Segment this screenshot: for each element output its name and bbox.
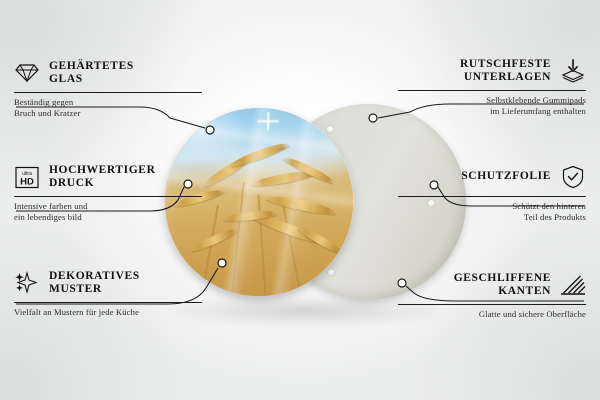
callout-beveled-edges: GESCHLIFFENEKANTEN Glatte und sichere Ob… bbox=[398, 270, 586, 320]
callout-subtitle: Vielfalt an Mustern für jede Küche bbox=[14, 307, 202, 318]
callout-title: SCHUTZFOLIE bbox=[461, 170, 551, 184]
callout-subtitle: Intensive farben undein lebendiges bild bbox=[14, 201, 202, 223]
callout-subtitle: Beständig gegenBruch und Kratzer bbox=[14, 97, 202, 119]
wheat-ear bbox=[229, 140, 290, 170]
divider bbox=[398, 304, 586, 305]
divider bbox=[14, 196, 202, 197]
callout-decorative-pattern: DEKORATIVESMUSTER Vielfalt an Mustern fü… bbox=[14, 268, 202, 318]
shield-check-icon bbox=[560, 164, 586, 190]
callout-title: RUTSCHFESTEUNTERLAGEN bbox=[460, 58, 551, 85]
anti-slip-pad-icon bbox=[560, 58, 586, 84]
ultra-hd-icon: ultra HD bbox=[14, 164, 40, 190]
beveled-edges-icon bbox=[560, 272, 586, 298]
divider bbox=[14, 92, 202, 93]
product-feature-infographic: GEHÄRTETESGLAS Beständig gegenBruch und … bbox=[0, 0, 600, 400]
callout-subtitle: Schützt den hinterenTeil des Produkts bbox=[398, 201, 586, 223]
callout-anti-slip: RUTSCHFESTEUNTERLAGEN Selbstklebende Gum… bbox=[398, 56, 586, 117]
divider bbox=[398, 196, 586, 197]
svg-text:HD: HD bbox=[20, 176, 34, 187]
sparkles-icon bbox=[14, 270, 40, 296]
callout-tempered-glass: GEHÄRTETESGLAS Beständig gegenBruch und … bbox=[14, 58, 202, 119]
diamond-gem-icon bbox=[14, 60, 40, 86]
divider bbox=[14, 302, 202, 303]
callout-protective-film: SCHUTZFOLIE Schützt den hinterenTeil des… bbox=[398, 162, 586, 223]
callout-subtitle: Selbstklebende Gummipadsim Lieferumfang … bbox=[398, 95, 586, 117]
callout-title: HOCHWERTIGERDRUCK bbox=[49, 164, 155, 191]
product-illustration bbox=[165, 100, 435, 320]
callout-title: GESCHLIFFENEKANTEN bbox=[454, 272, 551, 299]
callout-title: GEHÄRTETESGLAS bbox=[49, 60, 134, 87]
callout-hd-print: ultra HD HOCHWERTIGERDRUCK Intensive far… bbox=[14, 162, 202, 223]
glass-glint-icon bbox=[257, 110, 279, 132]
divider bbox=[398, 90, 586, 91]
callout-subtitle: Glatte und sichere Oberfläche bbox=[398, 309, 586, 320]
callout-title: DEKORATIVESMUSTER bbox=[49, 270, 140, 297]
